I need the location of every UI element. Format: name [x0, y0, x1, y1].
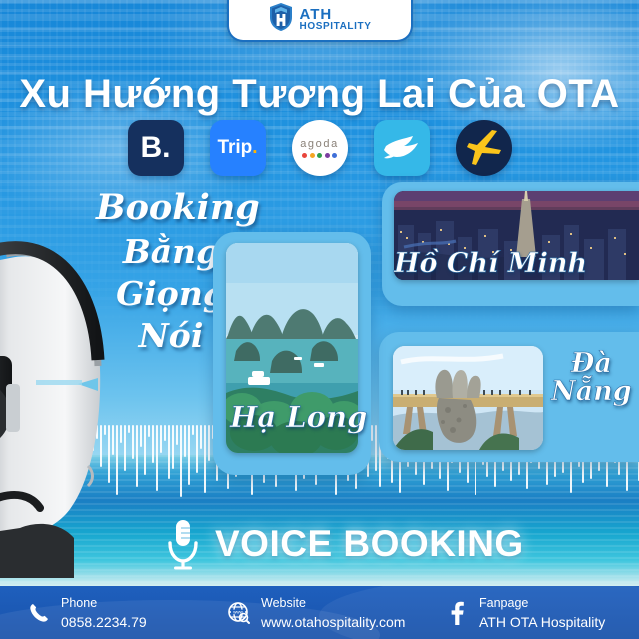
destination-card-ha-long[interactable]: Hạ Long: [213, 232, 371, 475]
footer-phone-label: Phone: [61, 596, 97, 610]
waveform-bar: [136, 425, 138, 487]
footer-fanpage-text: Fanpage ATH OTA Hospitality: [479, 593, 605, 633]
destination-label-ho-chi-minh: Hồ Chí Minh: [394, 248, 587, 279]
microphone-icon: [165, 518, 201, 570]
footer-item-fanpage[interactable]: Fanpage ATH OTA Hospitality: [444, 593, 605, 633]
waveform-bar: [188, 425, 190, 485]
trip-dot: .: [252, 137, 257, 159]
phone-icon: [26, 600, 52, 626]
footer-fanpage-label: Fanpage: [479, 596, 528, 610]
waveform-bar: [375, 425, 377, 471]
footer-website-label: Website: [261, 596, 306, 610]
script-line-1: Booking: [96, 186, 246, 231]
voice-booking-text: VOICE BOOKING: [215, 523, 524, 565]
waveform-bar: [156, 425, 158, 491]
agoda-mark: agoda: [300, 138, 339, 150]
agoda-dots: [302, 153, 337, 158]
waveform-bar: [208, 425, 210, 461]
page-title: Xu Hướng Tương Lai Của OTA: [0, 72, 639, 117]
trip-logo[interactable]: Trip.: [210, 120, 266, 176]
footer-contact-items: Phone 0858.2234.79 www: [0, 586, 639, 639]
footer-phone-text: Phone 0858.2234.79: [61, 593, 147, 633]
waveform-bar: [371, 425, 373, 441]
brand-wordmark: ATH HOSPITALITY: [300, 7, 372, 32]
destination-card-ho-chi-minh[interactable]: Hồ Chí Minh: [382, 182, 639, 306]
waveform-bar: [116, 425, 118, 495]
footer-fanpage-value: ATH OTA Hospitality: [479, 614, 605, 630]
booking-mark: B.: [141, 131, 171, 165]
waveform-bar: [124, 425, 126, 471]
footer-website-text: Website www.otahospitality.com: [261, 593, 405, 633]
brand-name-line2: HOSPITALITY: [300, 22, 372, 32]
waveform-bar: [120, 425, 122, 443]
waveform-bar: [148, 425, 150, 437]
golden-bridge-hands-photo: [393, 346, 543, 450]
footer-website-value: www.otahospitality.com: [261, 614, 405, 630]
brand-logo-banner: ATH HOSPITALITY: [227, 0, 413, 42]
waveform-bar: [200, 425, 202, 449]
footer-bar: Phone 0858.2234.79 www: [0, 586, 639, 639]
plane-icon: [461, 125, 507, 171]
facebook-icon: [444, 600, 470, 626]
footer-phone-value: 0858.2234.79: [61, 614, 147, 630]
waveform-bar: [176, 425, 178, 445]
waveform-bar: [172, 425, 174, 469]
waveform-bar: [128, 425, 130, 433]
destination-label-ha-long: Hạ Long: [230, 400, 367, 434]
bird-icon: [382, 133, 422, 163]
waveform-bar: [160, 425, 162, 453]
waveform-bar: [168, 425, 170, 479]
waveform-bar: [140, 425, 142, 447]
waveform-bar: [180, 425, 182, 497]
traveloka-bird-logo[interactable]: [374, 120, 430, 176]
agoda-logo[interactable]: agoda: [292, 120, 348, 176]
poster-canvas: ATH HOSPITALITY Xu Hướng Tương Lai Của O…: [0, 0, 639, 639]
voice-booking-banner: VOICE BOOKING: [165, 518, 524, 570]
waveform-bar: [152, 425, 154, 463]
expedia-plane-logo[interactable]: [456, 120, 512, 176]
booking-logo[interactable]: B.: [128, 120, 184, 176]
waveform-bar: [132, 425, 134, 459]
waveform-bar: [144, 425, 146, 475]
globe-www-icon: www: [226, 600, 252, 626]
waveform-bar: [196, 425, 198, 473]
footer-item-phone[interactable]: Phone 0858.2234.79: [26, 593, 226, 633]
destination-card-da-nang[interactable]: ĐàNẵng: [379, 332, 639, 462]
trip-mark: Trip: [217, 137, 252, 159]
brand-name-line1: ATH: [300, 7, 372, 22]
footer-item-website[interactable]: www Website www.otahospitality.com: [226, 593, 444, 633]
waveform-bar: [164, 425, 166, 441]
waveform-bar: [192, 425, 194, 435]
ota-partner-logos: B. Trip. agoda: [0, 120, 639, 176]
shield-h-icon: [268, 2, 294, 32]
destination-label-da-nang: ĐàNẵng: [551, 350, 632, 407]
golden-bridge-art: [393, 346, 543, 450]
waveform-bar: [204, 425, 206, 493]
waveform-bar: [184, 425, 186, 457]
